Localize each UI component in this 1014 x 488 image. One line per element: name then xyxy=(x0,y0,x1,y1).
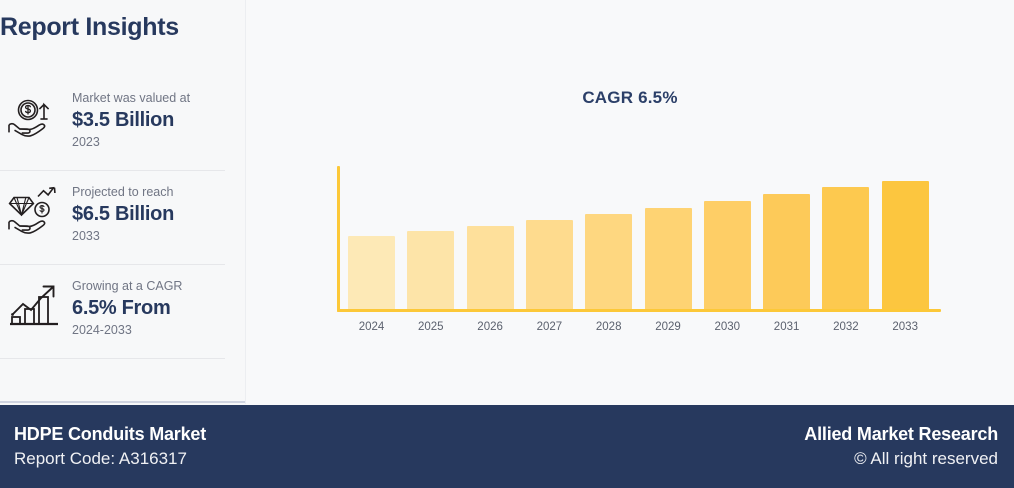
x-label-2024: 2024 xyxy=(348,321,395,333)
footer-market-name: HDPE Conduits Market xyxy=(14,421,206,447)
bar-2028 xyxy=(585,214,632,309)
x-label-2028: 2028 xyxy=(585,321,632,333)
insight-divider xyxy=(0,358,225,359)
bar-2027 xyxy=(526,220,573,309)
insight-text-group: Growing at a CAGR 6.5% From 2024-2033 xyxy=(72,278,242,338)
footer-right-group: Allied Market Research © All right reser… xyxy=(804,421,998,471)
footer-bar: HDPE Conduits Market Report Code: A31631… xyxy=(0,405,1014,488)
insight-value: $3.5 Billion xyxy=(72,107,242,133)
insight-text-group: Projected to reach $6.5 Billion 2033 xyxy=(72,184,242,244)
insight-subtext: 2023 xyxy=(72,134,242,150)
footer-report-code: Report Code: A316317 xyxy=(14,447,206,471)
report-insights-infographic: Report Insights xyxy=(0,0,1014,488)
insights-panel: Report Insights xyxy=(0,0,246,405)
x-label-2026: 2026 xyxy=(467,321,514,333)
insight-item-projection: Projected to reach $6.5 Billion 2033 xyxy=(0,171,246,265)
chart-title: CAGR 6.5% xyxy=(246,88,1014,108)
x-label-2030: 2030 xyxy=(704,321,751,333)
x-label-2029: 2029 xyxy=(645,321,692,333)
panel-bottom-rule xyxy=(0,401,246,403)
bar-chart-arrow-icon xyxy=(6,276,64,334)
insight-text-group: Market was valued at $3.5 Billion 2023 xyxy=(72,90,242,150)
insights-list: Market was valued at $3.5 Billion 2023 xyxy=(0,77,246,359)
x-axis-line xyxy=(337,309,941,312)
bar-2026 xyxy=(467,226,514,309)
insight-value: 6.5% From xyxy=(72,295,242,321)
hand-diamond-growth-icon xyxy=(6,182,64,240)
bar-2024 xyxy=(348,236,395,309)
insight-subtext: 2033 xyxy=(72,228,242,244)
bar-2033 xyxy=(882,181,929,309)
hand-money-growth-icon xyxy=(6,88,64,146)
footer-company-name: Allied Market Research xyxy=(804,421,998,447)
x-label-2025: 2025 xyxy=(407,321,454,333)
bar-2029 xyxy=(645,208,692,309)
x-label-2033: 2033 xyxy=(882,321,929,333)
bar-2031 xyxy=(763,194,810,309)
bar-2025 xyxy=(407,231,454,309)
insight-subtext: 2024-2033 xyxy=(72,322,242,338)
chart-region: CAGR 6.5% 202420252026202720282029203020… xyxy=(246,0,1014,405)
footer-left-group: HDPE Conduits Market Report Code: A31631… xyxy=(14,421,206,471)
bar-series xyxy=(348,166,941,309)
y-axis-line xyxy=(337,166,340,312)
bar-2032 xyxy=(822,187,869,309)
insight-item-market-value: Market was valued at $3.5 Billion 2023 xyxy=(0,77,246,171)
x-axis-labels: 2024202520262027202820292030203120322033 xyxy=(348,321,941,339)
bar-2030 xyxy=(704,201,751,309)
insight-caption: Growing at a CAGR xyxy=(72,278,242,294)
x-label-2027: 2027 xyxy=(526,321,573,333)
insight-caption: Projected to reach xyxy=(72,184,242,200)
insight-item-cagr: Growing at a CAGR 6.5% From 2024-2033 xyxy=(0,265,246,359)
insight-value: $6.5 Billion xyxy=(72,201,242,227)
bar-chart-plot xyxy=(337,166,941,312)
x-label-2032: 2032 xyxy=(822,321,869,333)
footer-copyright: © All right reserved xyxy=(804,447,998,471)
page-title: Report Insights xyxy=(0,13,179,42)
insight-caption: Market was valued at xyxy=(72,90,242,106)
x-label-2031: 2031 xyxy=(763,321,810,333)
